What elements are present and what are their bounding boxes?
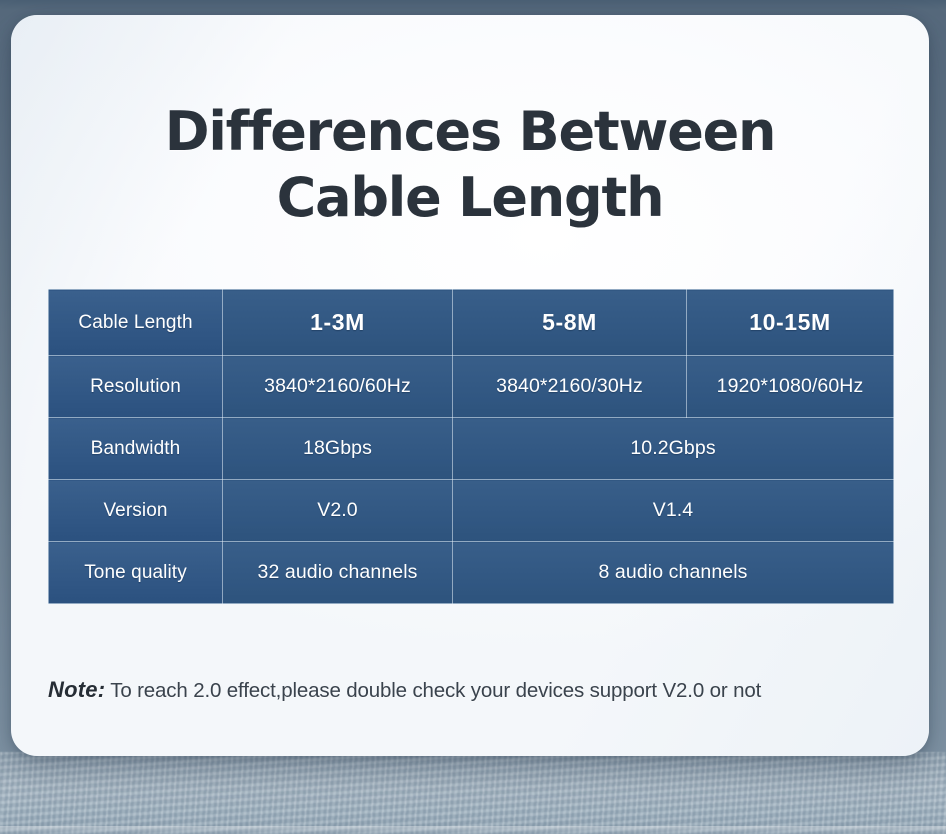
table-row: Resolution 3840*2160/60Hz 3840*2160/30Hz…: [49, 356, 894, 418]
table-row: Cable Length 1-3M 5-8M 10-15M: [49, 290, 894, 356]
column-header-10-15m: 10-15M: [687, 290, 894, 356]
note-label: Note:: [48, 677, 105, 702]
table-row: Tone quality 32 audio channels 8 audio c…: [49, 542, 894, 604]
cell-tone-quality-1-3m: 32 audio channels: [223, 542, 453, 604]
note-body: To reach 2.0 effect,please double check …: [110, 679, 761, 702]
fabric-texture: [0, 752, 946, 834]
info-card: Differences Between Cable Length Cable L…: [11, 15, 929, 756]
cell-tone-quality-5-15m: 8 audio channels: [453, 542, 894, 604]
cell-bandwidth-5-15m: 10.2Gbps: [453, 418, 894, 480]
cell-bandwidth-1-3m: 18Gbps: [223, 418, 453, 480]
page-title-line-2: Cable Length: [11, 165, 929, 231]
cell-resolution-5-8m: 3840*2160/30Hz: [453, 356, 687, 418]
row-header-bandwidth: Bandwidth: [49, 418, 223, 480]
column-header-1-3m: 1-3M: [223, 290, 453, 356]
cell-version-1-3m: V2.0: [223, 480, 453, 542]
page-title-line-1: Differences Between: [11, 99, 929, 165]
row-header-version: Version: [49, 480, 223, 542]
backdrop-highlight-line: [0, 826, 946, 834]
column-header-5-8m: 5-8M: [453, 290, 687, 356]
table-row: Bandwidth 18Gbps 10.2Gbps: [49, 418, 894, 480]
row-header-tone-quality: Tone quality: [49, 542, 223, 604]
note-text: Note:To reach 2.0 effect,please double c…: [48, 675, 908, 705]
page-title: Differences Between Cable Length: [11, 99, 929, 231]
cable-length-comparison-table: Cable Length 1-3M 5-8M 10-15M Resolution…: [48, 289, 894, 604]
cell-resolution-1-3m: 3840*2160/60Hz: [223, 356, 453, 418]
table-row: Version V2.0 V1.4: [49, 480, 894, 542]
cell-resolution-10-15m: 1920*1080/60Hz: [687, 356, 894, 418]
cell-version-5-15m: V1.4: [453, 480, 894, 542]
row-header-resolution: Resolution: [49, 356, 223, 418]
row-header-cable-length: Cable Length: [49, 290, 223, 356]
